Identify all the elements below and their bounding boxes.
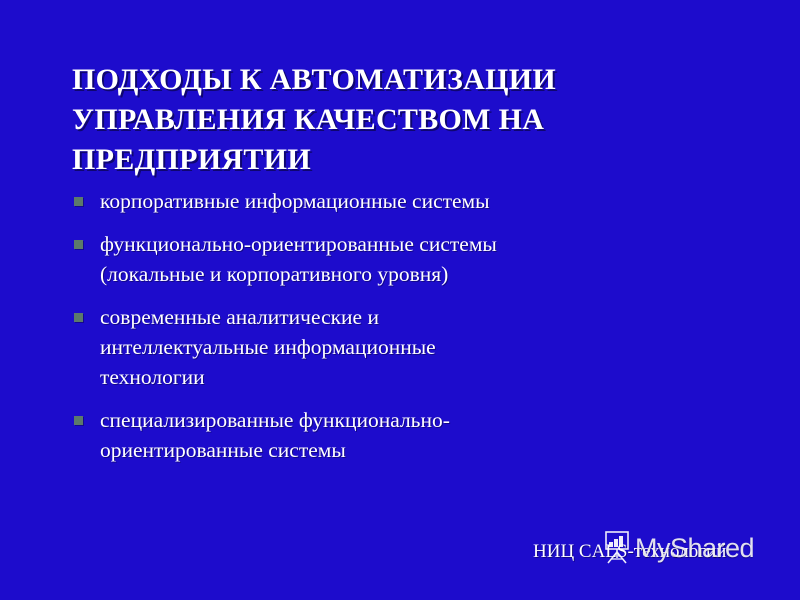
list-item: современные аналитические и интеллектуал… — [66, 302, 756, 392]
footer-watermark-cluster: НИЦ CALS-технологий MyShared — [533, 528, 795, 582]
list-item-text: функционально-ориентированные системы (л… — [100, 229, 756, 289]
watermark-brand: MyShared — [635, 530, 754, 566]
bullet-list: корпоративные информационные системы фун… — [66, 186, 756, 465]
watermark: MyShared — [599, 530, 754, 566]
square-bullet-icon — [74, 313, 83, 322]
list-item: корпоративные информационные системы — [66, 186, 756, 216]
presentation-slide: ПОДХОДЫ К АВТОМАТИЗАЦИИ УПРАВЛЕНИЯ КАЧЕС… — [0, 0, 800, 600]
page-title: ПОДХОДЫ К АВТОМАТИЗАЦИИ УПРАВЛЕНИЯ КАЧЕС… — [72, 60, 772, 180]
flipchart-easel-icon — [599, 530, 633, 566]
square-bullet-icon — [74, 197, 83, 206]
square-bullet-icon — [74, 416, 83, 425]
list-item-text: корпоративные информационные системы — [100, 186, 756, 216]
list-item: функционально-ориентированные системы (л… — [66, 229, 756, 289]
list-item-text: современные аналитические и интеллектуал… — [100, 302, 756, 392]
square-bullet-icon — [74, 240, 83, 249]
list-item: специализированные функционально- ориент… — [66, 405, 756, 465]
list-item-text: специализированные функционально- ориент… — [100, 405, 756, 465]
